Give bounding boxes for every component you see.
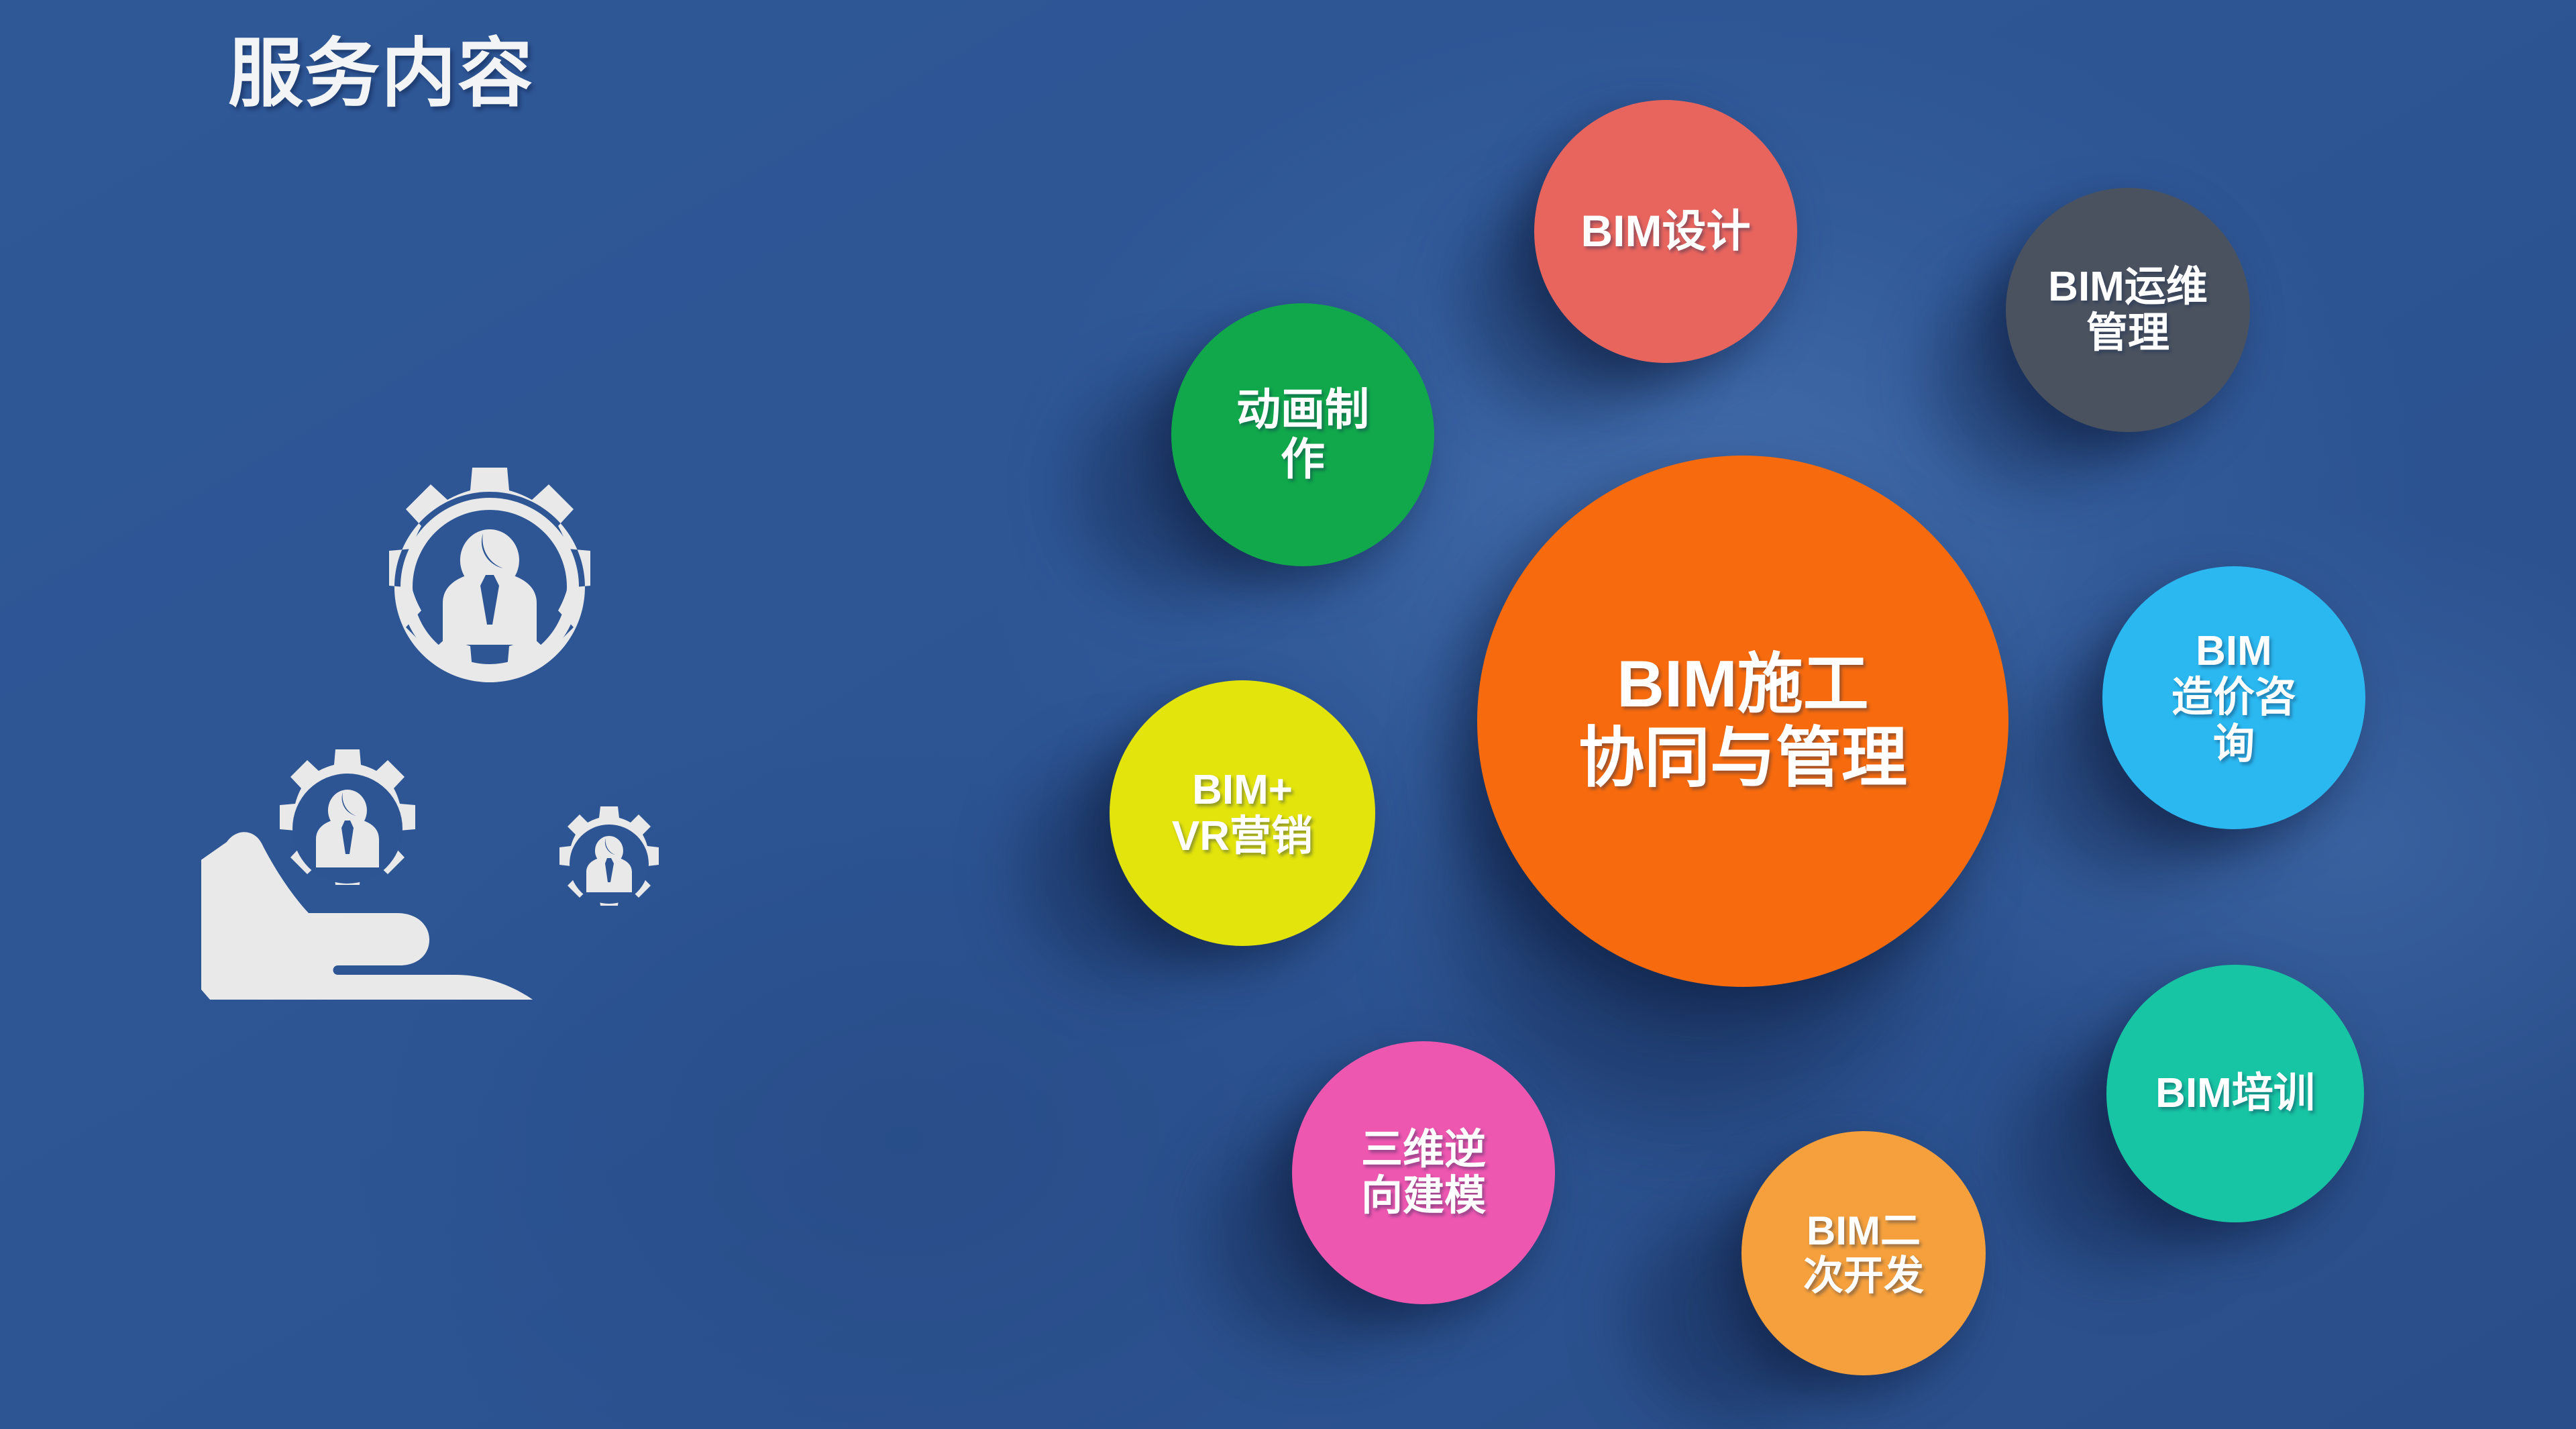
bubble-bim-secondary-development[interactable]: BIM二 次开发 [1741,1131,1986,1375]
bubble-reverse-3d-modeling[interactable]: 三维逆 向建模 [1292,1041,1555,1304]
bubble-label: BIM二 次开发 [1803,1208,1924,1298]
bubble-bim-training[interactable]: BIM培训 [2106,965,2364,1222]
hand-holding-people-gears-icon [201,449,731,1000]
bubble-bim-vr-marketing[interactable]: BIM+ VR营销 [1110,680,1375,946]
bubble-label: BIM运维 管理 [2048,264,2208,357]
page-title: 服务内容 [228,32,534,115]
bubble-bim-cost-consulting[interactable]: BIM 造价咨 询 [2102,566,2365,829]
bubble-label: 三维逆 向建模 [1361,1126,1486,1220]
bubble-bim-construction-collaboration-management[interactable]: BIM施工 协同与管理 [1477,456,2008,987]
bubble-label: BIM培训 [2155,1070,2315,1116]
bubble-animation-production[interactable]: 动画制 作 [1171,303,1434,566]
bubble-label: BIM施工 协同与管理 [1578,647,1907,795]
bubble-label: BIM 造价咨 询 [2171,628,2296,768]
slide-canvas: 服务内容 [0,0,2576,1429]
bubble-label: 动画制 作 [1236,385,1369,484]
bubble-bim-om-management[interactable]: BIM运维 管理 [2006,188,2250,432]
bubble-label: BIM+ VR营销 [1172,767,1313,860]
bubble-bim-design[interactable]: BIM设计 [1534,100,1797,363]
bubble-label: BIM设计 [1581,207,1751,256]
